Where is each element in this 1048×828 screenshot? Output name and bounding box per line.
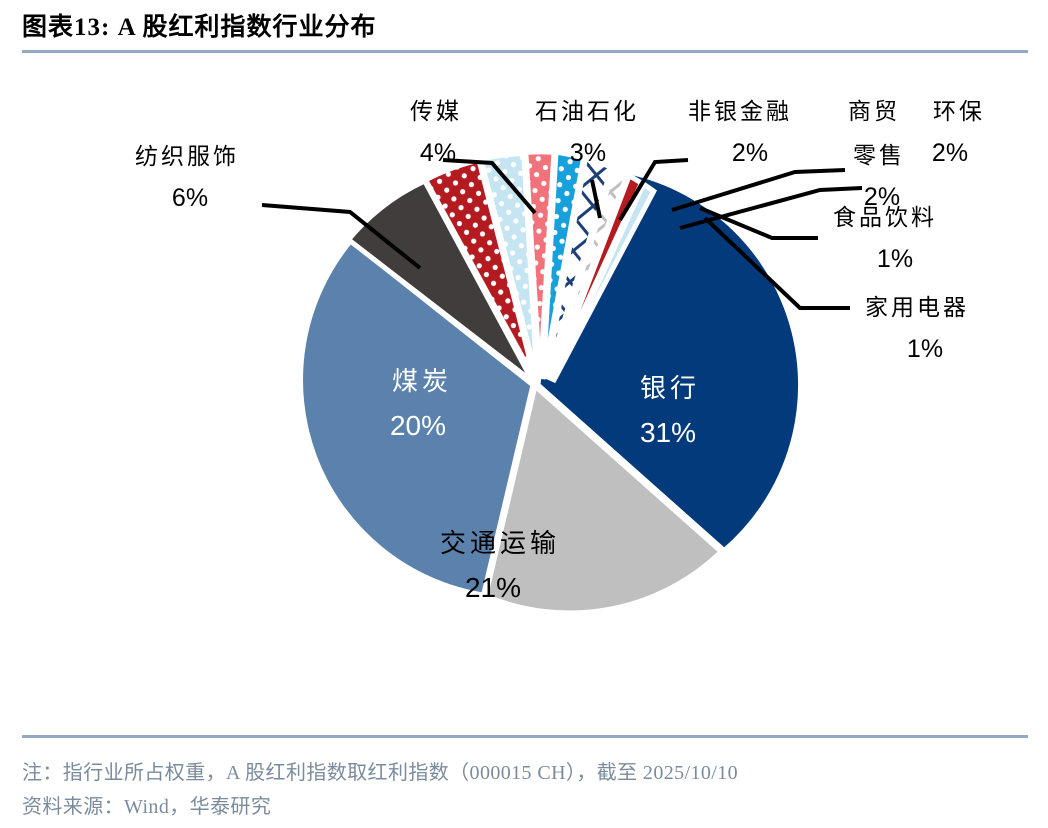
callout-enviro-name: 环保	[933, 99, 985, 124]
callout-appliance-name: 家用电器	[865, 295, 969, 320]
callout-enviro-pct: 2%	[932, 139, 968, 167]
slice-label-coal-pct: 20%	[390, 410, 446, 441]
footer-note: 注：指行业所占权重，A 股红利指数取红利指数（000015 CH），截至 202…	[22, 756, 1028, 790]
footer-source: 资料来源：Wind，华泰研究	[22, 790, 1028, 824]
callout-textile-name: 纺织服饰	[135, 144, 239, 169]
page-title: 图表13: A 股红利指数行业分布	[22, 12, 1028, 44]
chart-footer: 注：指行业所占权重，A 股红利指数取红利指数（000015 CH），截至 202…	[22, 735, 1028, 824]
header-divider	[22, 50, 1028, 53]
callout-oil-pct: 3%	[570, 139, 606, 167]
callout-textile-pct: 6%	[172, 184, 208, 212]
callout-media-pct: 4%	[420, 139, 456, 167]
callout-oil-name: 石油石化	[535, 99, 639, 124]
pie-chart-container: 银行 31% 交通运输 21% 煤炭 20% 纺织服饰 6% 传媒 4% 石油石…	[0, 60, 1048, 730]
callout-appliance-pct: 1%	[907, 335, 943, 363]
slice-label-transport-pct: 21%	[465, 572, 521, 603]
callout-food-pct: 1%	[877, 245, 913, 273]
callout-food-name: 食品饮料	[833, 205, 937, 230]
callout-media-name: 传媒	[410, 99, 462, 124]
callout-nonbank-name: 非银金融	[688, 99, 792, 124]
slice-label-transport-name: 交通运输	[440, 529, 560, 558]
slice-label-coal-name: 煤炭	[392, 367, 452, 396]
footer-divider	[22, 735, 1028, 738]
chart-page: 图表13: A 股红利指数行业分布	[0, 0, 1048, 828]
slice-label-bank-pct: 31%	[640, 417, 696, 448]
chart-header: 图表13: A 股红利指数行业分布	[22, 12, 1028, 53]
pie-chart-svg: 银行 31% 交通运输 21% 煤炭 20% 纺织服饰 6% 传媒 4% 石油石…	[0, 60, 1048, 730]
slice-label-bank-name: 银行	[640, 374, 700, 403]
callout-retail-name-line1: 商贸	[848, 99, 900, 124]
callout-retail-name-line2: 零售	[853, 143, 905, 168]
callout-nonbank-pct: 2%	[732, 139, 768, 167]
